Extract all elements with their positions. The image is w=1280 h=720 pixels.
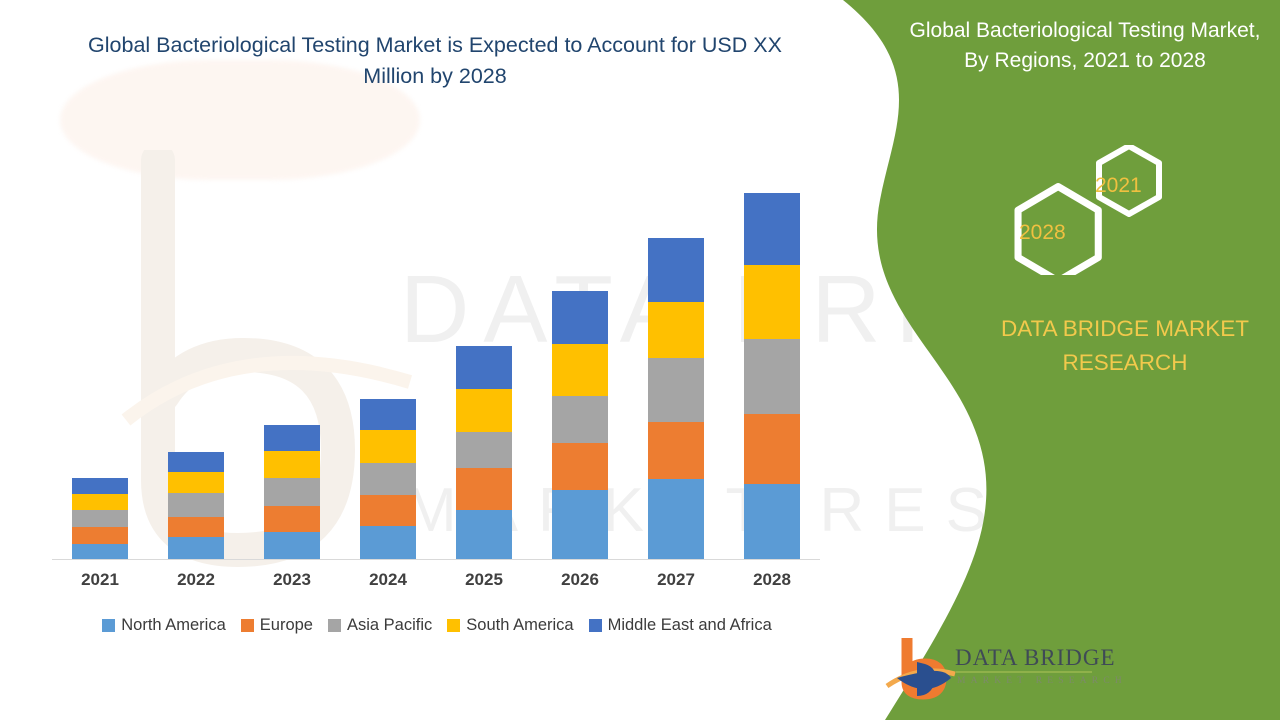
bar-slot xyxy=(148,160,244,559)
bar-segment[interactable] xyxy=(744,414,800,484)
legend-label: Asia Pacific xyxy=(347,616,432,635)
stacked-bar-2021[interactable] xyxy=(72,478,128,559)
bar-segment[interactable] xyxy=(360,526,416,559)
bar-segment[interactable] xyxy=(552,443,608,490)
legend-item[interactable]: Europe xyxy=(241,616,313,635)
page-title: Global Bacteriological Testing Market is… xyxy=(60,30,810,92)
x-axis-tick-2023: 2023 xyxy=(244,570,340,590)
bar-segment[interactable] xyxy=(72,494,128,510)
bar-slot xyxy=(628,160,724,559)
stacked-bar-2027[interactable] xyxy=(648,238,704,559)
bar-segment[interactable] xyxy=(456,389,512,432)
bar-segment[interactable] xyxy=(648,479,704,559)
hexagon-pair xyxy=(975,145,1190,275)
legend-label: Middle East and Africa xyxy=(608,616,772,635)
legend-swatch-icon xyxy=(328,619,341,632)
legend-swatch-icon xyxy=(447,619,460,632)
bar-segment[interactable] xyxy=(360,399,416,430)
bar-slot xyxy=(436,160,532,559)
hexagon-label-2028: 2028 xyxy=(1019,221,1066,245)
x-axis-labels: 20212022202320242025202620272028 xyxy=(52,570,820,590)
logo-divider xyxy=(956,671,1092,673)
bar-segment[interactable] xyxy=(648,238,704,302)
legend-label: Europe xyxy=(260,616,313,635)
bar-segment[interactable] xyxy=(648,358,704,422)
chart-legend: North AmericaEuropeAsia PacificSouth Ame… xyxy=(52,616,822,635)
legend-item[interactable]: Asia Pacific xyxy=(328,616,432,635)
bar-segment[interactable] xyxy=(264,425,320,451)
x-axis-tick-2028: 2028 xyxy=(724,570,820,590)
brand-name: DATA BRIDGE MARKET RESEARCH xyxy=(965,312,1280,380)
x-axis-tick-2025: 2025 xyxy=(436,570,532,590)
bar-segment[interactable] xyxy=(456,468,512,510)
bar-slot xyxy=(244,160,340,559)
bar-segment[interactable] xyxy=(360,463,416,495)
bar-slot xyxy=(52,160,148,559)
x-axis-tick-2027: 2027 xyxy=(628,570,724,590)
stacked-bar-2022[interactable] xyxy=(168,452,224,559)
bar-segment[interactable] xyxy=(360,430,416,463)
bar-segment[interactable] xyxy=(72,478,128,494)
panel-title: Global Bacteriological Testing Market, B… xyxy=(900,16,1270,77)
bar-segment[interactable] xyxy=(456,432,512,468)
bar-segment[interactable] xyxy=(648,422,704,479)
bar-segment[interactable] xyxy=(264,451,320,478)
legend-item[interactable]: South America xyxy=(447,616,573,635)
bar-segment[interactable] xyxy=(744,484,800,559)
hexagon-label-2021: 2021 xyxy=(1095,174,1142,198)
bar-segment[interactable] xyxy=(72,527,128,544)
bar-segment[interactable] xyxy=(72,510,128,527)
bar-segment[interactable] xyxy=(456,346,512,389)
bar-segment[interactable] xyxy=(264,532,320,559)
bar-segment[interactable] xyxy=(744,339,800,414)
bar-slot xyxy=(532,160,628,559)
bar-slot xyxy=(340,160,436,559)
legend-item[interactable]: Middle East and Africa xyxy=(589,616,772,635)
logo-wordmark: DATA BRIDGE xyxy=(955,645,1116,671)
bar-segment[interactable] xyxy=(744,265,800,339)
legend-swatch-icon xyxy=(241,619,254,632)
bar-segment[interactable] xyxy=(648,302,704,358)
x-axis-tick-2024: 2024 xyxy=(340,570,436,590)
bar-segment[interactable] xyxy=(456,510,512,559)
stacked-bar-2023[interactable] xyxy=(264,425,320,559)
bar-segment[interactable] xyxy=(168,517,224,537)
legend-label: South America xyxy=(466,616,573,635)
bar-segment[interactable] xyxy=(360,495,416,526)
x-axis-tick-2021: 2021 xyxy=(52,570,148,590)
legend-swatch-icon xyxy=(102,619,115,632)
chart-plot-area xyxy=(52,160,820,560)
bar-segment[interactable] xyxy=(168,472,224,493)
bar-slot xyxy=(724,160,820,559)
legend-label: North America xyxy=(121,616,226,635)
x-axis-line xyxy=(52,559,820,560)
stacked-bar-2024[interactable] xyxy=(360,399,416,559)
bar-segment[interactable] xyxy=(168,537,224,559)
bar-segment[interactable] xyxy=(552,291,608,344)
x-axis-tick-2022: 2022 xyxy=(148,570,244,590)
stacked-bar-2025[interactable] xyxy=(456,346,512,559)
bar-segment[interactable] xyxy=(264,478,320,506)
stacked-bar-2028[interactable] xyxy=(744,193,800,559)
stacked-bar-2026[interactable] xyxy=(552,291,608,559)
legend-item[interactable]: North America xyxy=(102,616,226,635)
bar-group xyxy=(52,160,820,559)
legend-swatch-icon xyxy=(589,619,602,632)
infographic-slide: DATA BRIDGE MARKET RESEARCH Global Bacte… xyxy=(0,0,1280,720)
bar-segment[interactable] xyxy=(72,544,128,559)
logo-subtitle: MARKET RESEARCH xyxy=(957,676,1127,686)
bar-segment[interactable] xyxy=(552,490,608,559)
bar-segment[interactable] xyxy=(168,493,224,517)
bar-segment[interactable] xyxy=(552,396,608,443)
bar-segment[interactable] xyxy=(552,344,608,396)
bar-segment[interactable] xyxy=(168,452,224,472)
bar-segment[interactable] xyxy=(744,193,800,265)
x-axis-tick-2026: 2026 xyxy=(532,570,628,590)
bar-segment[interactable] xyxy=(264,506,320,532)
